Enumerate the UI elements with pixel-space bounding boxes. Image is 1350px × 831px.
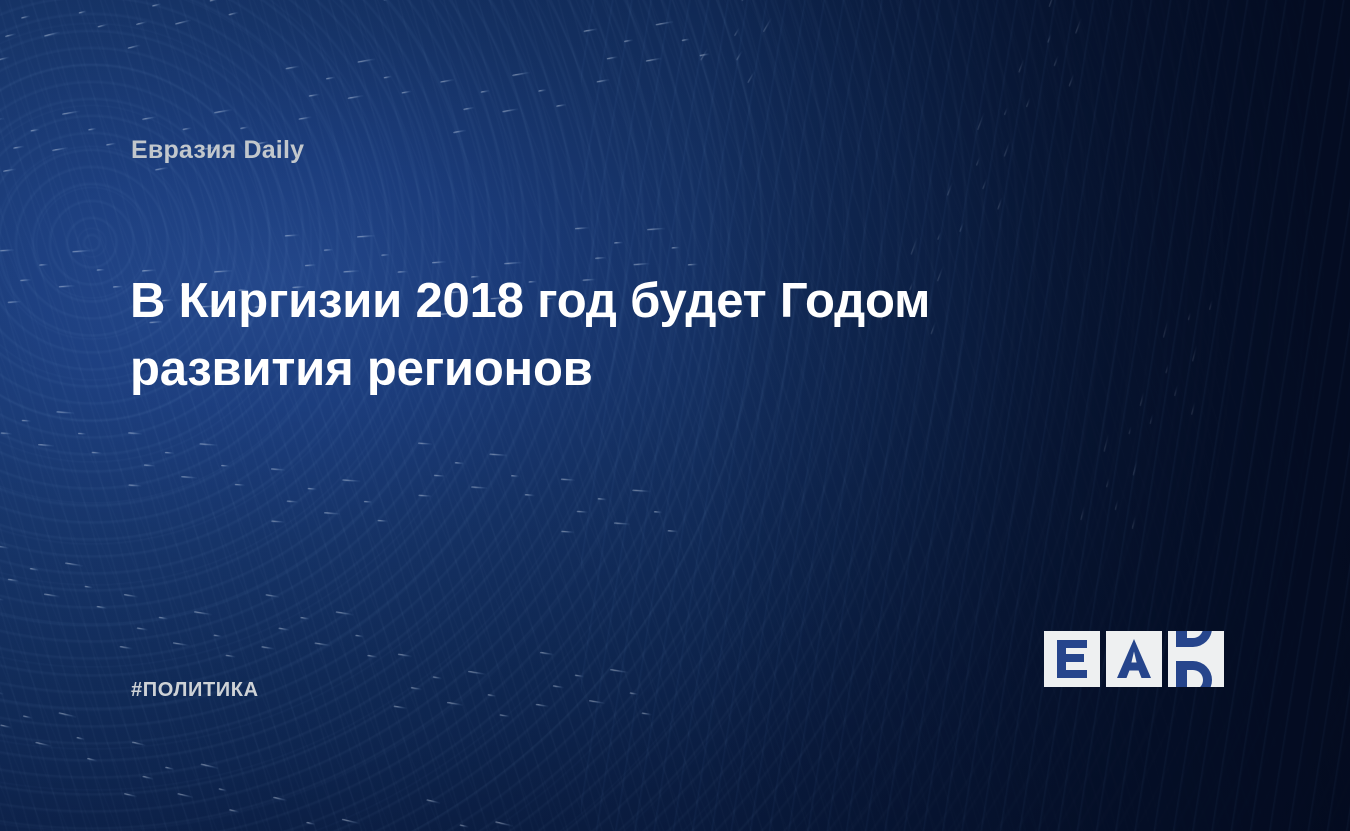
category-tag[interactable]: #ПОЛИТИКА	[131, 679, 259, 702]
letter-e-glyph	[1057, 640, 1087, 678]
card-content: Евразия Daily В Киргизии 2018 год будет …	[0, 0, 1350, 831]
letter-d-lower-glyph	[1176, 661, 1212, 687]
logo-tile-d	[1168, 631, 1224, 687]
logo-tile-a	[1106, 631, 1162, 687]
letter-d-upper-glyph	[1176, 631, 1212, 647]
brand-label: Евразия Daily	[131, 136, 304, 165]
page-title: В Киргизии 2018 год будет Годом развития…	[130, 268, 1060, 403]
logo-tile-e	[1044, 631, 1100, 687]
news-card: Евразия Daily В Киргизии 2018 год будет …	[0, 0, 1350, 831]
eadaily-logo[interactable]	[1044, 631, 1224, 687]
letter-a-glyph	[1117, 639, 1151, 678]
